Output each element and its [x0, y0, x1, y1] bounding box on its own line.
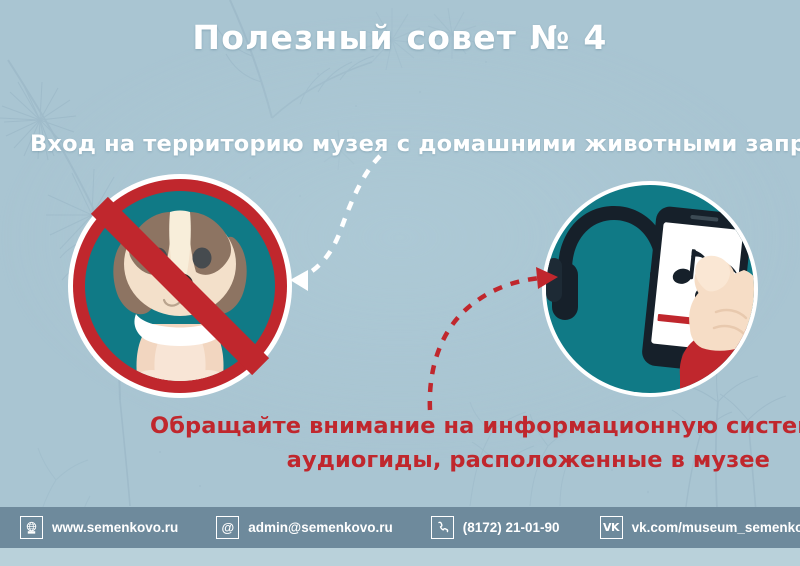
contact-vk[interactable]: VK vk.com/museum_semenkovo	[600, 516, 800, 539]
vk-icon: VK	[600, 516, 623, 539]
contact-website[interactable]: www.semenkovo.ru	[20, 516, 178, 539]
footer-bottom-strip	[0, 548, 800, 566]
no-pets-sign-illustration	[52, 172, 308, 400]
poster-title: Полезный совет № 4	[0, 18, 800, 57]
red-caption: Обращайте внимание на информационную сис…	[150, 409, 770, 477]
contact-email-label: admin@semenkovo.ru	[248, 520, 392, 535]
red-caption-line-1: Обращайте внимание на информационную сис…	[150, 409, 770, 443]
contact-phone-label: (8172) 21-01-90	[463, 520, 560, 535]
at-email-icon: @	[216, 516, 239, 539]
phone-icon	[431, 516, 454, 539]
contact-website-label: www.semenkovo.ru	[52, 520, 178, 535]
headline-text: Вход на территорию музея с домашними жив…	[30, 131, 770, 157]
globe-www-icon	[20, 516, 43, 539]
contact-email[interactable]: @ admin@semenkovo.ru	[216, 516, 392, 539]
contact-phone[interactable]: (8172) 21-01-90	[431, 516, 560, 539]
footer-contact-bar: www.semenkovo.ru @ admin@semenkovo.ru (8…	[0, 507, 800, 548]
audio-guide-illustration	[530, 178, 770, 400]
red-caption-line-2: аудиогиды, расположенные в музее	[150, 443, 770, 477]
poster-canvas: Полезный совет № 4 Вход на территорию му…	[0, 0, 800, 566]
contact-vk-label: vk.com/museum_semenkovo	[632, 520, 800, 535]
